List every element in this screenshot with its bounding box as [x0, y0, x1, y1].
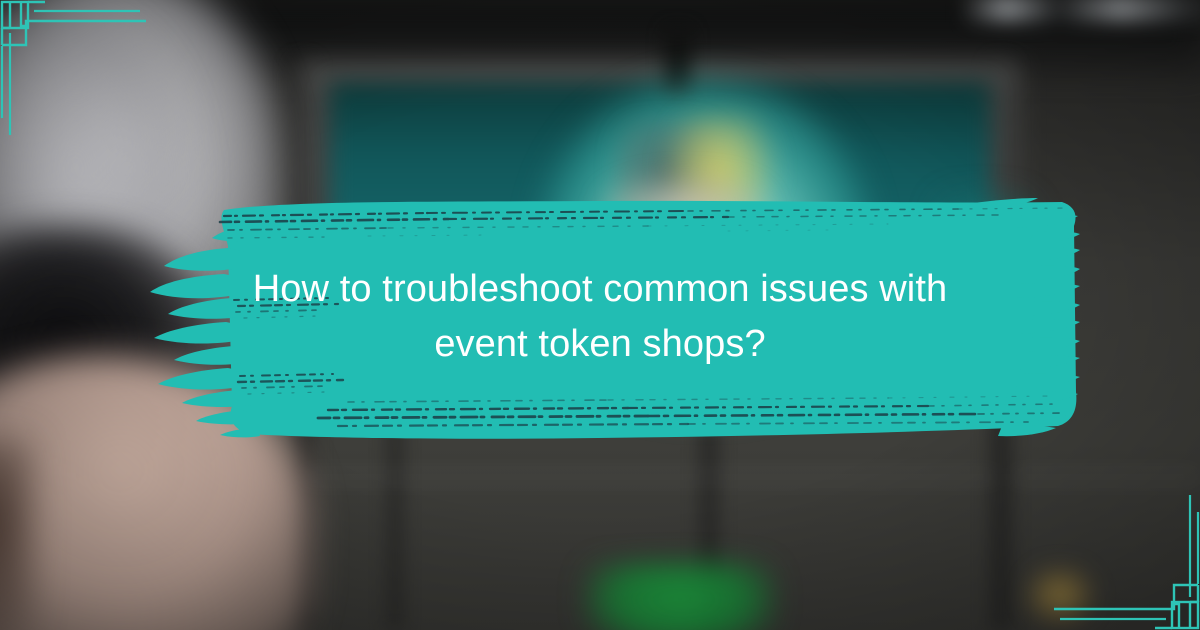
card-title-line-1: How to troubleshoot common issues with — [150, 262, 1050, 317]
card-title: How to troubleshoot common issues with e… — [150, 262, 1050, 372]
social-card: How to troubleshoot common issues with e… — [0, 0, 1200, 630]
circuit-corner-bottom-right-icon — [1040, 470, 1200, 630]
circuit-corner-top-left-icon — [0, 0, 160, 160]
card-title-line-2: event token shops? — [150, 317, 1050, 372]
